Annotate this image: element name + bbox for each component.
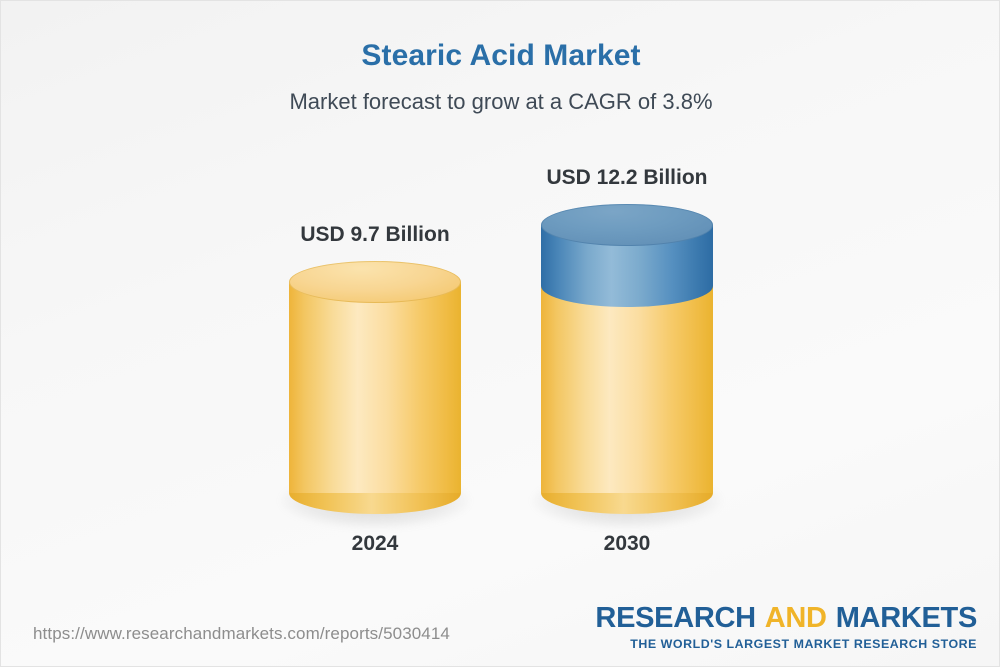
cylinder-top-rim (289, 261, 461, 303)
source-url[interactable]: https://www.researchandmarkets.com/repor… (33, 624, 450, 644)
cylinder-2030 (541, 204, 713, 514)
cylinder-body (289, 282, 461, 493)
cylinder-2024 (289, 261, 461, 514)
bar-category-label-2024: 2024 (289, 532, 461, 556)
cylinder-top-rim (541, 204, 713, 246)
bar-group-2030: USD 12.2 Billion 2030 (541, 139, 713, 556)
plot-area: USD 9.7 Billion 2024 USD 12.2 Bil (1, 1, 1000, 601)
cylinder-segment-growth (541, 204, 713, 328)
bar-category-label-2030: 2030 (541, 532, 713, 556)
bar-value-label-2030: USD 12.2 Billion (499, 166, 755, 190)
brand-tagline: THE WORLD'S LARGEST MARKET RESEARCH STOR… (595, 638, 977, 650)
brand-word-and: AND (765, 602, 827, 634)
bar-value-label-2024: USD 9.7 Billion (247, 223, 503, 247)
brand-word-markets: MARKETS (836, 602, 977, 634)
brand-word-research: RESEARCH (595, 602, 755, 634)
cylinder-segment-base (289, 261, 461, 514)
brand-logo[interactable]: RESEARCHANDMARKETS THE WORLD'S LARGEST M… (595, 604, 977, 650)
chart-canvas: Stearic Acid Market Market forecast to g… (0, 0, 1000, 667)
brand-name: RESEARCHANDMARKETS (595, 604, 977, 633)
bar-group-2024: USD 9.7 Billion 2024 (289, 196, 461, 556)
